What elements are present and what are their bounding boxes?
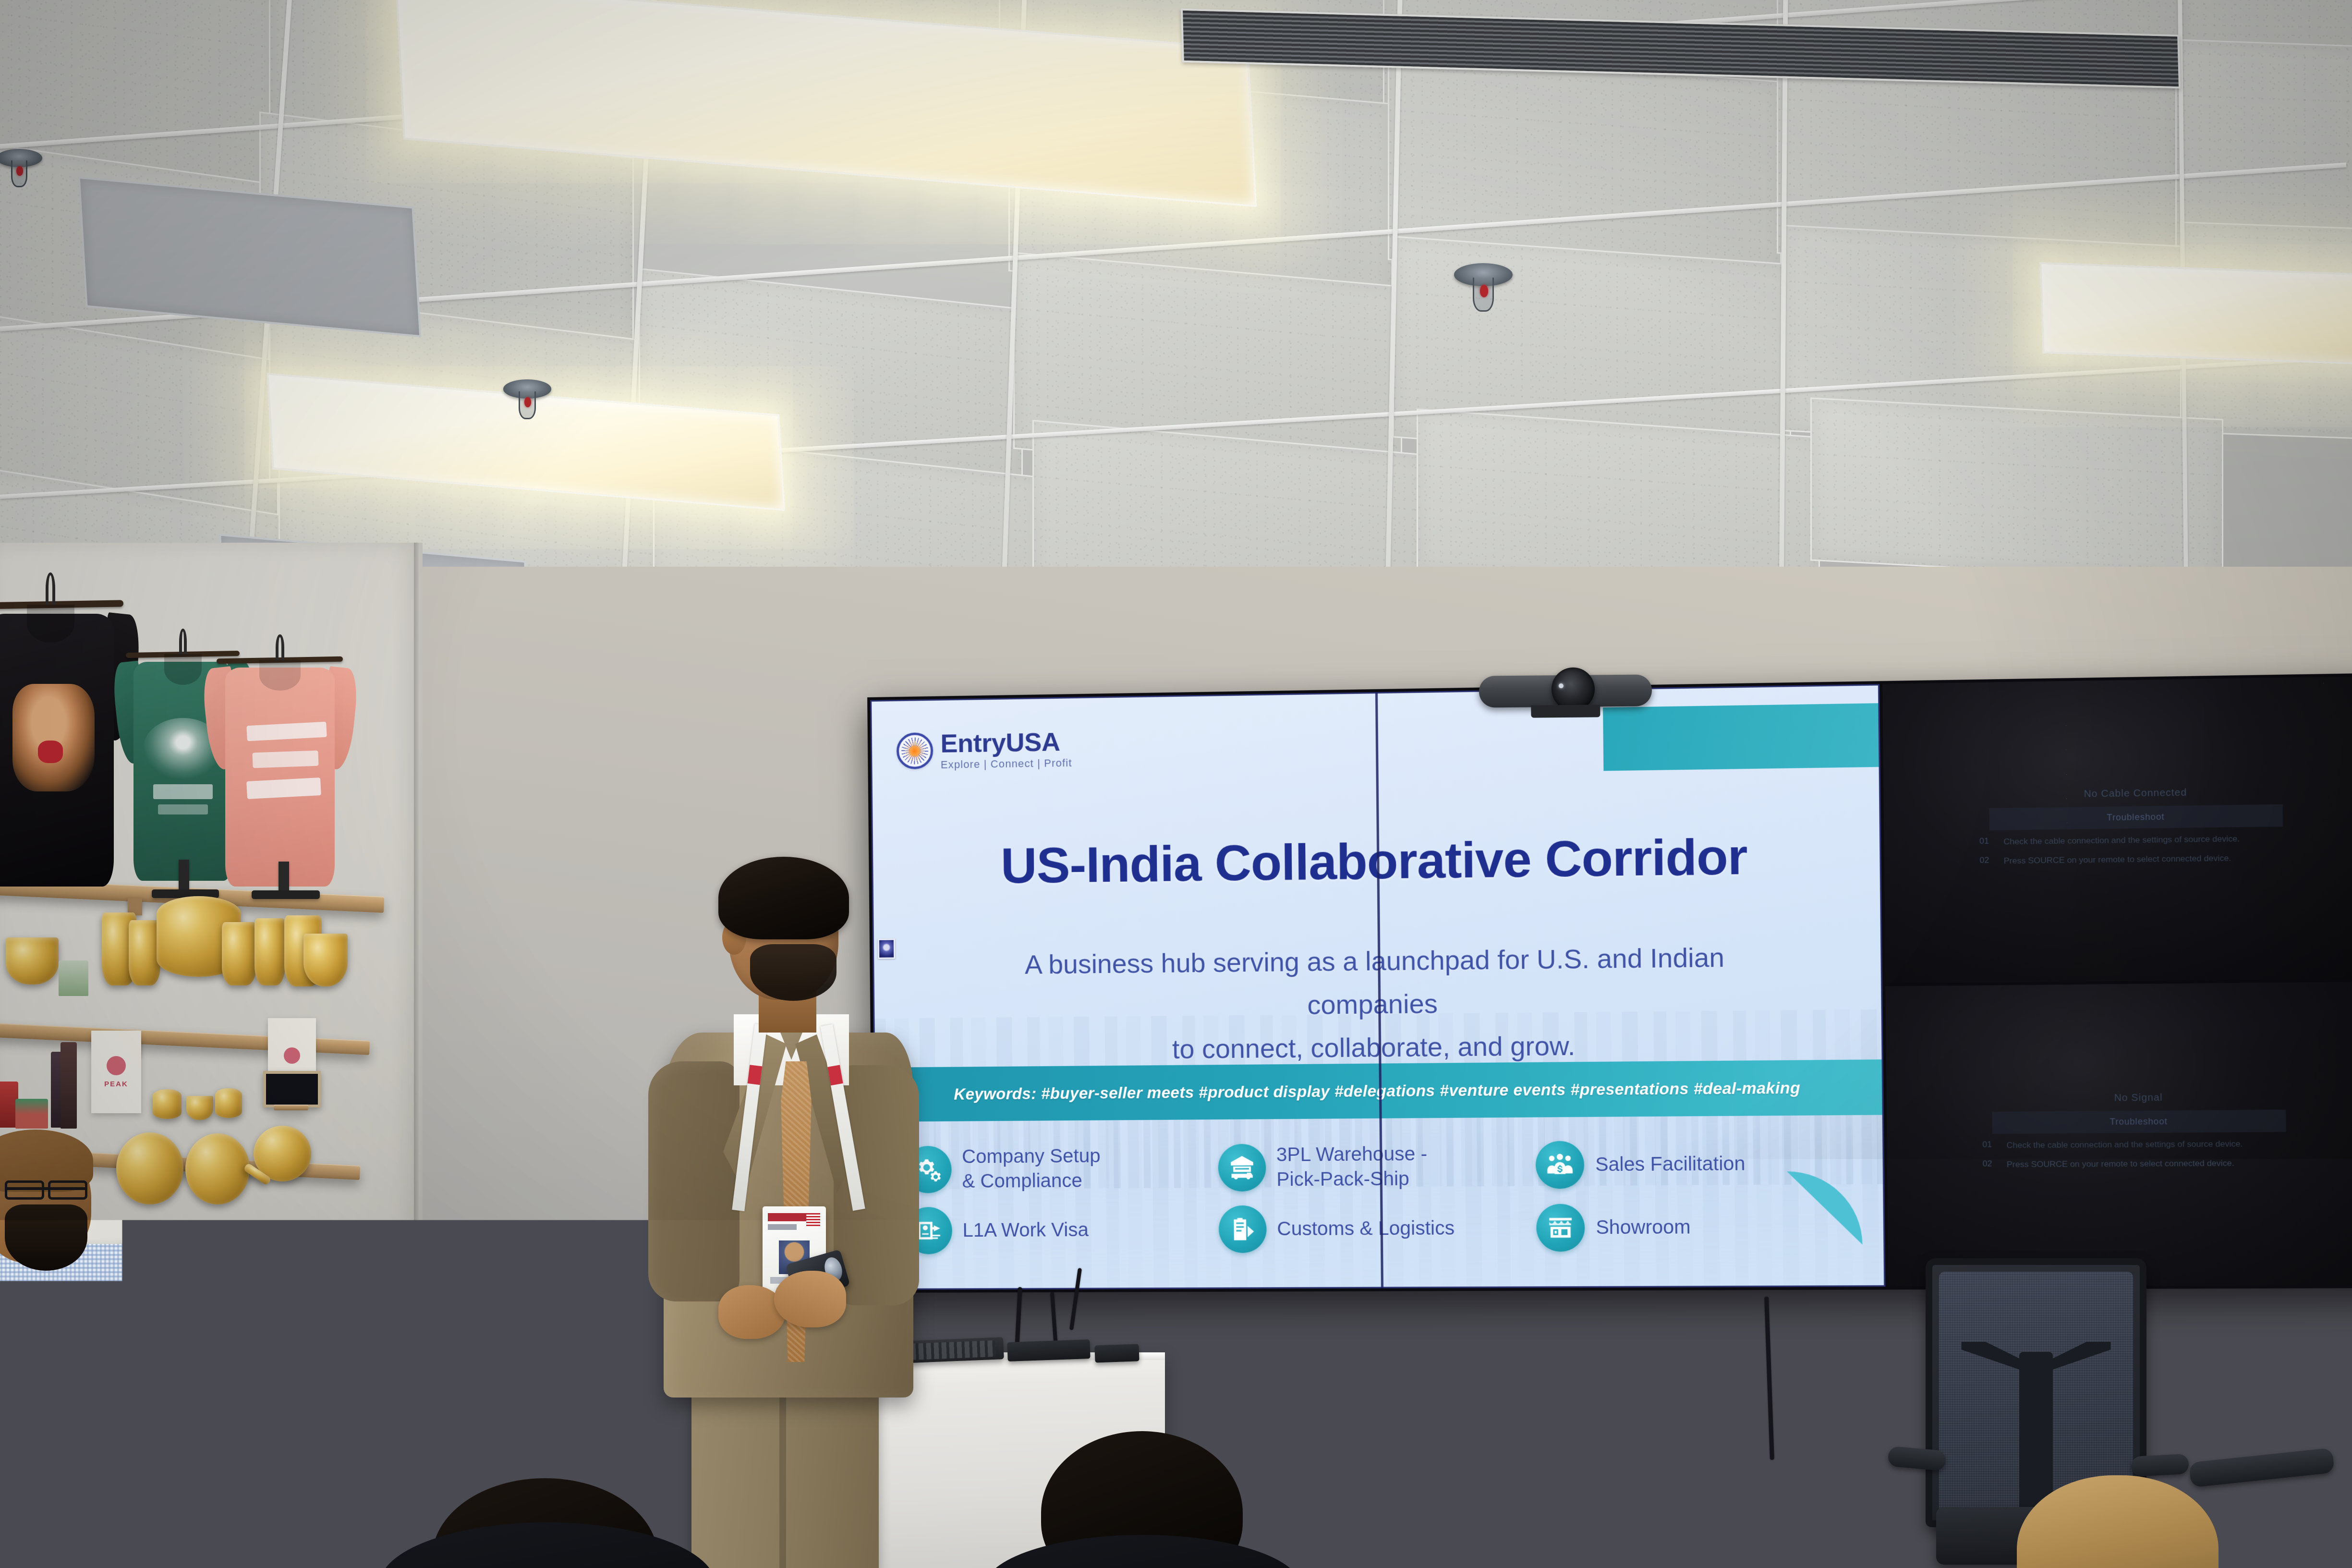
troubleshoot-step: 02Press SOURCE on your remote to select … <box>1979 851 2293 867</box>
brass-tumbler <box>129 920 160 985</box>
service-item-showroom: Showroom <box>1536 1203 1854 1252</box>
pink-tshirt <box>211 632 349 887</box>
candle <box>15 1099 48 1129</box>
troubleshoot-step: 01Check the cable connection and the set… <box>1979 833 2293 849</box>
service-label: Company Setup& Compliance <box>962 1144 1101 1193</box>
fire-sprinkler-head <box>1454 263 1513 324</box>
brass-plate <box>215 1088 242 1118</box>
conference-camera-bar <box>1479 674 1652 707</box>
floor <box>0 1467 2352 1568</box>
slide-teal-banner <box>1603 703 1880 771</box>
presenter <box>619 836 956 1568</box>
shirt-print-portrait <box>12 684 95 791</box>
presenter-beard <box>750 944 837 1001</box>
candle <box>61 1042 77 1129</box>
brass-bowl <box>303 934 348 986</box>
brand-poster: PEAK <box>91 1031 141 1113</box>
slide-subtitle-line1: A business hub serving as a launchpad fo… <box>982 936 1770 1030</box>
black-graphic-tshirt <box>0 570 130 887</box>
brass-plate <box>185 1133 250 1204</box>
service-item-3pl-warehouse: 3PL Warehouse -Pick-Pack-Ship <box>1218 1141 1531 1192</box>
brass-bowl <box>6 937 59 985</box>
services-grid: Company Setup& Compliance 3PL Warehouse … <box>904 1139 1854 1254</box>
poster-label: PEAK <box>104 1080 128 1088</box>
service-label: Showroom <box>1596 1215 1691 1240</box>
entryusa-logo: EntryUSA Explore | Connect | Profit <box>896 729 1072 771</box>
service-item-sales-facilitation: Sales Facilitation <box>1536 1139 1854 1189</box>
display-remote-1[interactable] <box>1007 1339 1090 1361</box>
display-remote-2[interactable] <box>1094 1344 1139 1362</box>
warehouse-truck-icon <box>1218 1143 1266 1191</box>
keywords-text: Keywords: #buyer-seller meets #product d… <box>954 1079 1800 1104</box>
audience-member-beard <box>5 1204 87 1271</box>
troubleshoot-label: Troubleshoot <box>2107 812 2164 823</box>
people-dollar-icon <box>1536 1141 1585 1189</box>
storefront-icon <box>1536 1203 1585 1252</box>
ashoka-chakra-wheel-icon <box>896 732 933 769</box>
service-item-customs-logistics: Customs & Logistics <box>1218 1204 1532 1253</box>
troubleshoot-step: 01Check the cable connection and the set… <box>1982 1138 2296 1152</box>
service-label: L1A Work Visa <box>962 1218 1089 1243</box>
service-label: Customs & Logistics <box>1277 1216 1455 1241</box>
brass-bowl <box>186 1096 213 1120</box>
brass-pot <box>252 1234 360 1301</box>
photo-frame <box>263 1071 321 1107</box>
display-panel-no-signal[interactable]: No Signal Troubleshoot 01Check the cable… <box>1885 982 2352 1287</box>
presenter-hair <box>718 857 849 939</box>
troubleshoot-label: Troubleshoot <box>2110 1117 2167 1127</box>
logo-name: EntryUSA <box>940 729 1072 757</box>
service-label: 3PL Warehouse -Pick-Pack-Ship <box>1276 1142 1428 1192</box>
fire-sprinkler-head <box>503 379 551 429</box>
presenter-right-arm <box>834 1065 919 1305</box>
slide-subtitle: A business hub serving as a launchpad fo… <box>982 936 1770 1072</box>
presenter-right-hand <box>774 1271 846 1327</box>
display-panel-slide[interactable]: EntryUSA Explore | Connect | Profit US-I… <box>870 684 1885 1290</box>
troubleshoot-step: 02Press SOURCE on your remote to select … <box>1983 1157 2297 1171</box>
clipboard-document-icon <box>1218 1205 1266 1253</box>
ceiling <box>0 0 2352 620</box>
eyeglasses <box>5 1187 87 1190</box>
brass-plate <box>116 1132 183 1204</box>
conference-room-photo: PEAK Ent <box>0 0 2352 1568</box>
recessed-panel-light <box>2039 262 2352 367</box>
brass-plate <box>153 1089 182 1119</box>
service-label: Sales Facilitation <box>1595 1152 1746 1177</box>
fire-sprinkler-head <box>0 149 42 197</box>
display-panel-no-cable[interactable]: No Cable Connected Troubleshoot 01Check … <box>1882 676 2352 983</box>
wall-power-outlet <box>1583 1407 1624 1458</box>
brass-tumbler <box>255 918 285 985</box>
presenter-left-arm <box>648 1061 740 1301</box>
logo-tagline: Explore | Connect | Profit <box>941 758 1072 770</box>
candle <box>59 960 88 996</box>
no-signal-title: No Signal <box>2114 1093 2163 1104</box>
brass-tumbler <box>222 922 256 985</box>
no-signal-title: No Cable Connected <box>2084 788 2187 801</box>
video-wall: EntryUSA Explore | Connect | Profit US-I… <box>867 673 2352 1293</box>
